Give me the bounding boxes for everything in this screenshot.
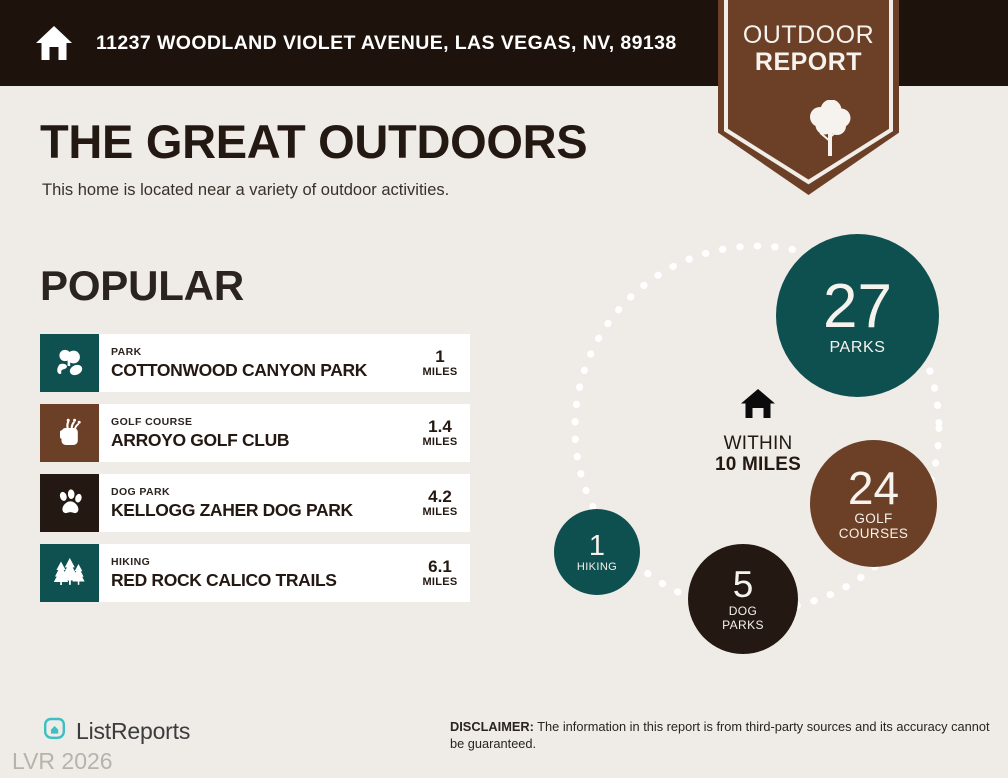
bubble-value: 27 <box>823 276 892 338</box>
distance-value: 6.1 <box>418 558 462 576</box>
list-item-name: RED ROCK CALICO TRAILS <box>111 570 337 590</box>
distance-unit: MILES <box>418 506 462 518</box>
home-icon <box>663 388 853 425</box>
list-item-name: COTTONWOOD CANYON PARK <box>111 360 367 380</box>
list-item-name: KELLOGG ZAHER DOG PARK <box>111 500 353 520</box>
distance-unit: MILES <box>418 366 462 378</box>
distance-value: 1 <box>418 348 462 366</box>
listreports-logo[interactable]: ListReports <box>40 715 190 748</box>
popular-list: PARK COTTONWOOD CANYON PARK 1 MILES <box>40 334 470 614</box>
bubble-value: 5 <box>733 566 754 603</box>
list-item-body: DOG PARK KELLOGG ZAHER DOG PARK 4.2 MILE… <box>99 474 470 532</box>
title-block: THE GREAT OUTDOORS This home is located … <box>40 118 587 200</box>
bubble-label: HIKING <box>577 562 617 573</box>
badge-title: OUTDOOR REPORT <box>718 22 899 75</box>
list-item[interactable]: PARK COTTONWOOD CANYON PARK 1 MILES <box>40 334 470 392</box>
distance-unit: MILES <box>418 436 462 448</box>
list-item[interactable]: DOG PARK KELLOGG ZAHER DOG PARK 4.2 MILE… <box>40 474 470 532</box>
bubble-value: 1 <box>589 532 605 561</box>
tree-icon <box>805 100 855 163</box>
list-item-category: GOLF COURSE <box>111 416 289 429</box>
list-item-body: PARK COTTONWOOD CANYON PARK 1 MILES <box>99 334 470 392</box>
list-item-body: GOLF COURSE ARROYO GOLF CLUB 1.4 MILES <box>99 404 470 462</box>
list-item-category: PARK <box>111 346 367 359</box>
bubble-label-line-1: DOG <box>729 605 758 618</box>
page-subtitle: This home is located near a variety of o… <box>42 181 587 200</box>
bubble-label-line-1: GOLF <box>854 512 892 527</box>
property-address: 11237 WOODLAND VIOLET AVENUE, LAS VEGAS,… <box>96 32 677 55</box>
lvr-label: LVR 2026 <box>12 748 113 775</box>
golf-bag-icon <box>40 404 99 462</box>
listreports-house-pin-icon <box>40 715 68 748</box>
home-icon <box>34 24 74 62</box>
badge-line-2: REPORT <box>718 49 899 76</box>
diagram-center-label: WITHIN 10 MILES <box>663 388 853 476</box>
list-item-distance: 6.1 MILES <box>418 558 462 588</box>
popular-section-title: POPULAR <box>40 265 244 307</box>
amenities-bubble-chart: 27 PARKS 24 GOLF COURSES 5 DOG PARKS 1 H… <box>520 228 990 673</box>
center-line-2: 10 MILES <box>663 454 853 475</box>
bubble-parks[interactable]: 27 PARKS <box>776 234 939 397</box>
distance-value: 4.2 <box>418 488 462 506</box>
bubble-label-line-2: PARKS <box>722 619 764 632</box>
center-line-1: WITHIN <box>663 433 853 454</box>
list-item-category: HIKING <box>111 556 337 569</box>
outdoor-report-page: 11237 WOODLAND VIOLET AVENUE, LAS VEGAS,… <box>0 0 1008 778</box>
list-item[interactable]: HIKING RED ROCK CALICO TRAILS 6.1 MILES <box>40 544 470 602</box>
badge-line-1: OUTDOOR <box>718 22 899 49</box>
list-item-distance: 1 MILES <box>418 348 462 378</box>
distance-unit: MILES <box>418 576 462 588</box>
list-item-body: HIKING RED ROCK CALICO TRAILS 6.1 MILES <box>99 544 470 602</box>
pine-trees-icon <box>40 544 99 602</box>
list-item-category: DOG PARK <box>111 486 353 499</box>
park-trees-icon <box>40 334 99 392</box>
bubble-label: PARKS <box>829 340 885 356</box>
listreports-wordmark: ListReports <box>76 718 190 745</box>
header-content: 11237 WOODLAND VIOLET AVENUE, LAS VEGAS,… <box>34 0 677 86</box>
paw-print-icon <box>40 474 99 532</box>
disclaimer: DISCLAIMER: The information in this repo… <box>450 718 995 753</box>
disclaimer-label: DISCLAIMER: <box>450 719 534 734</box>
list-item[interactable]: GOLF COURSE ARROYO GOLF CLUB 1.4 MILES <box>40 404 470 462</box>
page-title: THE GREAT OUTDOORS <box>40 118 587 165</box>
bubble-dog-parks[interactable]: 5 DOG PARKS <box>688 544 798 654</box>
list-item-distance: 4.2 MILES <box>418 488 462 518</box>
bubble-label-line-2: COURSES <box>839 527 909 542</box>
distance-value: 1.4 <box>418 418 462 436</box>
list-item-distance: 1.4 MILES <box>418 418 462 448</box>
bubble-hiking[interactable]: 1 HIKING <box>554 509 640 595</box>
list-item-name: ARROYO GOLF CLUB <box>111 430 289 450</box>
bubble-value: 24 <box>848 465 899 511</box>
